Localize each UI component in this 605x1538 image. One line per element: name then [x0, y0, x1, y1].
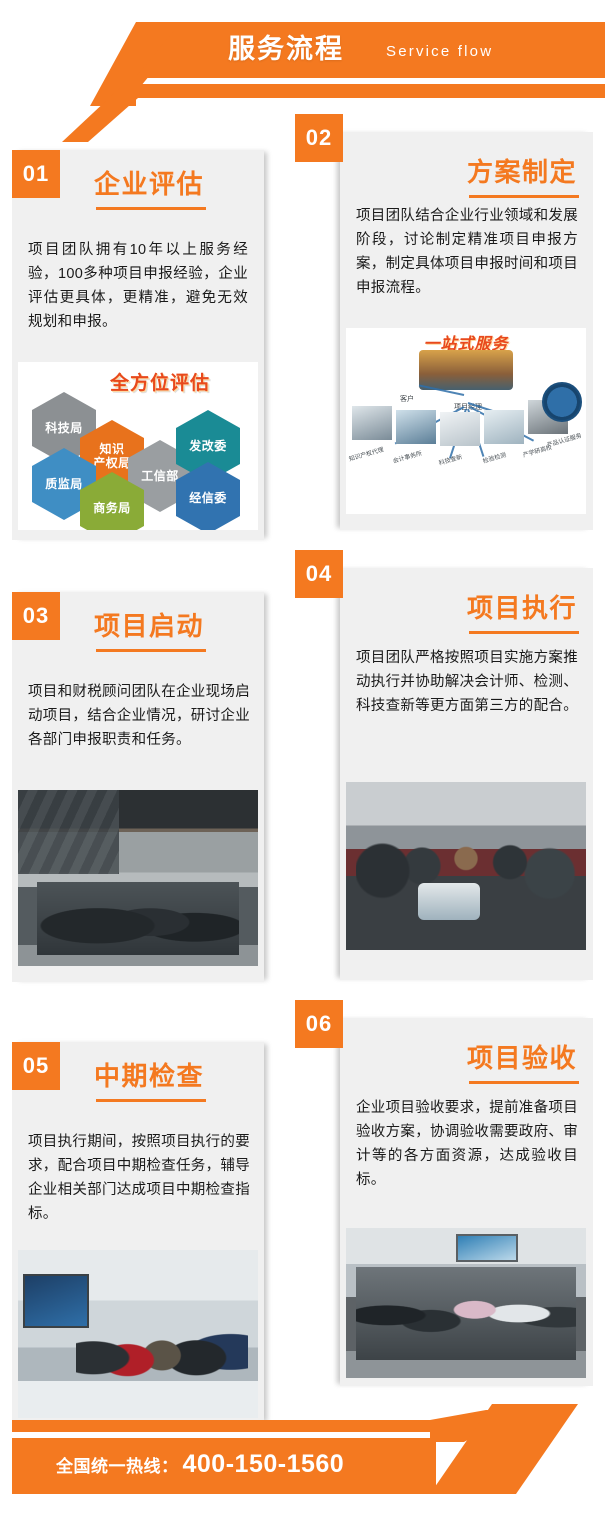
- oss-certification-seal-icon: [542, 382, 582, 422]
- one-stop-service-hub: [419, 350, 513, 390]
- step-number-badge: 04: [295, 550, 343, 598]
- infographic-page: 服务流程 Service flow 01 企业评估 项目团队拥有10年以上服务经…: [0, 0, 605, 1538]
- oss-center-label-customer: 客户: [400, 394, 414, 404]
- step-number-badge: 03: [12, 592, 60, 640]
- page-header: 服务流程 Service flow: [0, 0, 605, 105]
- hotline-label: 全国统一热线：: [56, 1452, 179, 1477]
- hotline-number[interactable]: 400-150-1560: [183, 1450, 345, 1479]
- step-description: 项目团队结合企业行业领域和发展阶段，讨论制定精准项目申报方案，制定具体项目申报时…: [356, 204, 578, 300]
- step-title: 项目启动: [94, 606, 204, 643]
- step-title: 中期检查: [94, 1056, 204, 1093]
- oss-label-ip-agency: 知识产权代理: [348, 444, 385, 463]
- step-title: 企业评估: [94, 164, 204, 201]
- hexagon-diagram: 全方位评估 科技局 知识 产权局 质监局 工信部 商务局 发改委 经信委: [18, 362, 258, 530]
- step-description: 项目和财税顾问团队在企业现场启动项目，结合企业情况，研讨企业各部门申报职责和任务…: [28, 680, 250, 752]
- photo-conference-screen: [346, 1228, 586, 1378]
- oss-label-accounting: 会计事务所: [392, 448, 423, 465]
- oss-label-sci-search: 科技查新: [438, 452, 464, 467]
- hexagon-diagram-title: 全方位评估: [110, 368, 210, 395]
- oss-node-accounting: [396, 410, 436, 444]
- step-number-badge: 01: [12, 150, 60, 198]
- step-description: 项目团队严格按照项目实施方案推动执行并协助解决会计师、检测、科技查新等更方面第三…: [356, 646, 578, 718]
- photo-meeting-room: [18, 790, 258, 966]
- step-card-05[interactable]: 05 中期检查 项目执行期间，按照项目执行的要求，配合项目中期检查任务，辅导企业…: [12, 1042, 264, 1424]
- step-number-badge: 05: [12, 1042, 60, 1090]
- step-title: 项目执行: [467, 588, 577, 625]
- photo-lobby-visit: [18, 1250, 258, 1418]
- step-number-badge: 02: [295, 114, 343, 162]
- step-card-04[interactable]: 04 项目执行 项目团队严格按照项目实施方案推动执行并协助解决会计师、检测、科技…: [340, 568, 593, 980]
- step-number-badge: 06: [295, 1000, 343, 1048]
- page-title: 服务流程: [228, 27, 344, 71]
- step-description: 企业项目验收要求，提前准备项目验收方案，协调验收需要政府、审计等的各方面资源，达…: [356, 1096, 578, 1192]
- oss-label-inspection: 检验检测: [482, 450, 508, 465]
- one-stop-service-diagram: 一站式服务 客户 项目经理 知识产权代理 会计事务所 科技查新 检验检测 产学研…: [346, 328, 586, 514]
- photo-working-desks: [346, 782, 586, 950]
- header-stripe: [135, 84, 605, 98]
- oss-node-sci-search: [440, 412, 480, 446]
- step-card-02[interactable]: 02 方案制定 项目团队结合企业行业领域和发展阶段，讨论制定精准项目申报方案，制…: [340, 132, 593, 530]
- step-card-03[interactable]: 03 项目启动 项目和财税顾问团队在企业现场启动项目，结合企业情况，研讨企业各部…: [12, 592, 264, 982]
- oss-node-inspection: [484, 410, 524, 444]
- footer-stripe: [12, 1420, 436, 1432]
- step-card-01[interactable]: 01 企业评估 项目团队拥有10年以上服务经验，100多种项目申报经验，企业评估…: [12, 150, 264, 540]
- step-card-06[interactable]: 06 项目验收 企业项目验收要求，提前准备项目验收方案，协调验收需要政府、审计等…: [340, 1018, 593, 1386]
- oss-node-ip-agency: [352, 406, 392, 440]
- step-description: 项目团队拥有10年以上服务经验，100多种项目申报经验，企业评估更具体，更精准，…: [28, 238, 248, 334]
- step-title: 方案制定: [467, 152, 577, 189]
- step-title: 项目验收: [467, 1038, 577, 1075]
- page-footer: 全国统一热线： 400-150-1560: [0, 1398, 605, 1538]
- hotline-block: 全国统一热线： 400-150-1560: [56, 1450, 344, 1479]
- step-description: 项目执行期间，按照项目执行的要求，配合项目中期检查任务，辅导企业相关部门达成项目…: [28, 1130, 250, 1226]
- header-banner: [135, 22, 605, 78]
- page-subtitle: Service flow: [386, 40, 493, 64]
